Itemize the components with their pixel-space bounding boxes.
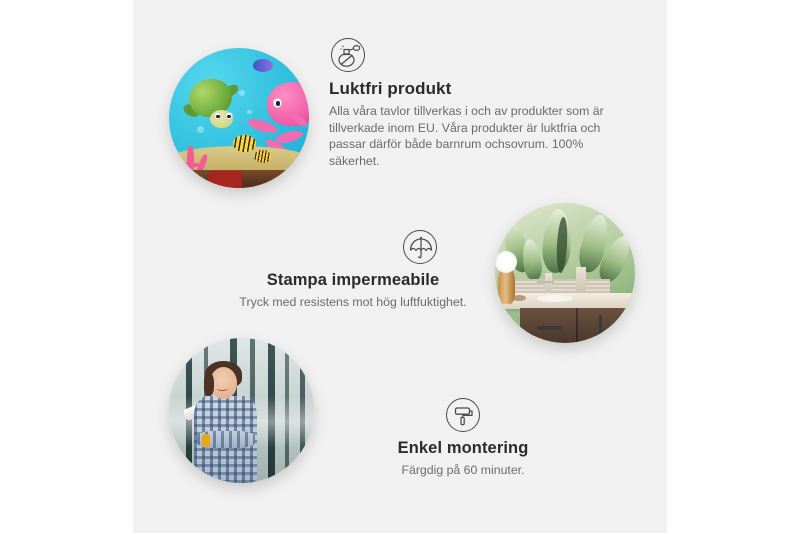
vanity-seam — [576, 308, 578, 343]
woman-figure — [169, 338, 314, 483]
woman-paint-roller-forest-medallion — [169, 338, 314, 483]
feature-icon-wrap — [331, 38, 629, 72]
yellow-striped-fish-icon — [254, 150, 271, 163]
underwater-cartoon-medallion — [169, 48, 309, 188]
bubble-icon — [239, 90, 245, 96]
umbrella-icon — [403, 230, 437, 264]
feature-icon-wrap — [203, 230, 503, 264]
no-perfume-spray-icon — [331, 38, 365, 72]
paint-roller-icon — [446, 398, 480, 432]
feature-icon-wrap — [333, 398, 593, 432]
feature-body: Alla våra tavlor tillverkas i och av pro… — [329, 103, 629, 169]
bathroom-leaf-wallpaper-medallion — [495, 203, 635, 343]
faucet — [537, 281, 554, 283]
bathroom-bottle — [576, 267, 586, 295]
seabed-red-object — [208, 171, 242, 188]
underwater-elements — [169, 48, 309, 188]
paint-roller-grip — [202, 434, 209, 447]
feature-title: Luktfri produkt — [329, 79, 629, 99]
product-feature-panel: Luktfri produkt Alla våra tavlor tillver… — [133, 0, 667, 533]
bubble-icon — [247, 110, 251, 114]
hair-side — [204, 373, 214, 396]
feature-body: Tryck med resistens mot hög luftfuktighe… — [203, 294, 503, 311]
cabinet-handle — [599, 315, 603, 337]
blue-fish-icon — [253, 59, 273, 72]
feature-block-waterproof: Stampa impermeabile Tryck med resistens … — [203, 230, 503, 311]
octopus-tentacle — [275, 129, 305, 146]
turtle-eye — [225, 112, 233, 120]
screenshot-root: Luktfri produkt Alla våra tavlor tillver… — [0, 0, 800, 533]
feature-block-odourless: Luktfri produkt Alla våra tavlor tillver… — [329, 38, 629, 169]
feature-title: Enkel montering — [333, 439, 593, 458]
leaf-shape — [520, 238, 544, 282]
drawer-handle — [537, 326, 562, 330]
feature-title: Stampa impermeabile — [203, 271, 503, 290]
bubble-icon — [197, 126, 204, 133]
yellow-striped-fish-icon — [233, 135, 255, 152]
feature-body: Färgdig på 60 minuter. — [333, 462, 593, 479]
bathroom-elements — [495, 203, 635, 343]
feature-block-easy-mounting: Enkel montering Färgdig på 60 minuter. — [333, 398, 593, 479]
